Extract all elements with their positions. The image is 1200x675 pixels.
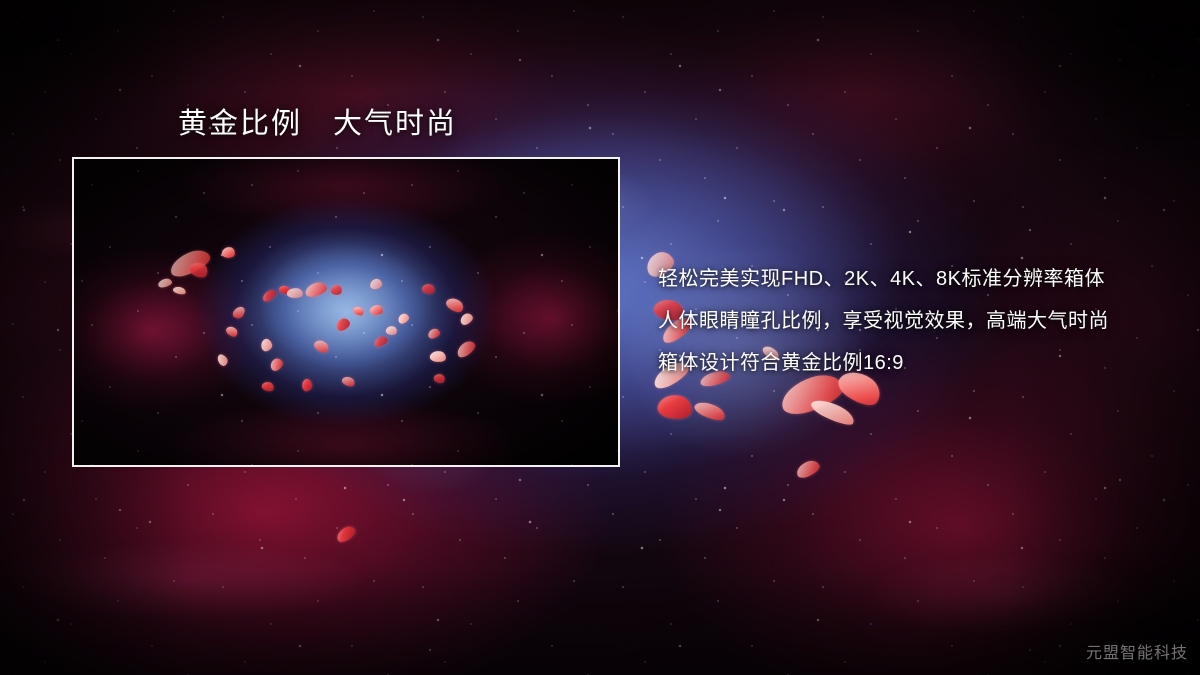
watermark-label: 元盟智能科技 [1086,639,1188,663]
photo-vignette [74,159,618,465]
image-frame-panel[interactable] [72,157,620,467]
flower-petal [794,458,821,480]
description-line-3: 箱体设计符合黄金比例16:9 [658,342,1158,384]
page-title: 黄金比例 大气时尚 [178,100,457,142]
description-line-2: 人体眼睛瞳孔比例，享受视觉效果，高端大气时尚 [658,300,1158,342]
flower-petal [656,392,694,423]
flower-petal [334,524,357,544]
flower-petal [809,395,857,430]
description-line-1: 轻松完美实现FHD、2K、4K、8K标准分辨率箱体 [658,258,1158,300]
presentation-slide: 黄金比例 大气时尚 轻松完美实现FHD、2K、4K、8K标准分辨率箱体 人体眼睛… [0,0,1200,675]
description-text-block: 轻松完美实现FHD、2K、4K、8K标准分辨率箱体 人体眼睛瞳孔比例，享受视觉效… [658,258,1158,384]
flower-petal [693,398,728,424]
